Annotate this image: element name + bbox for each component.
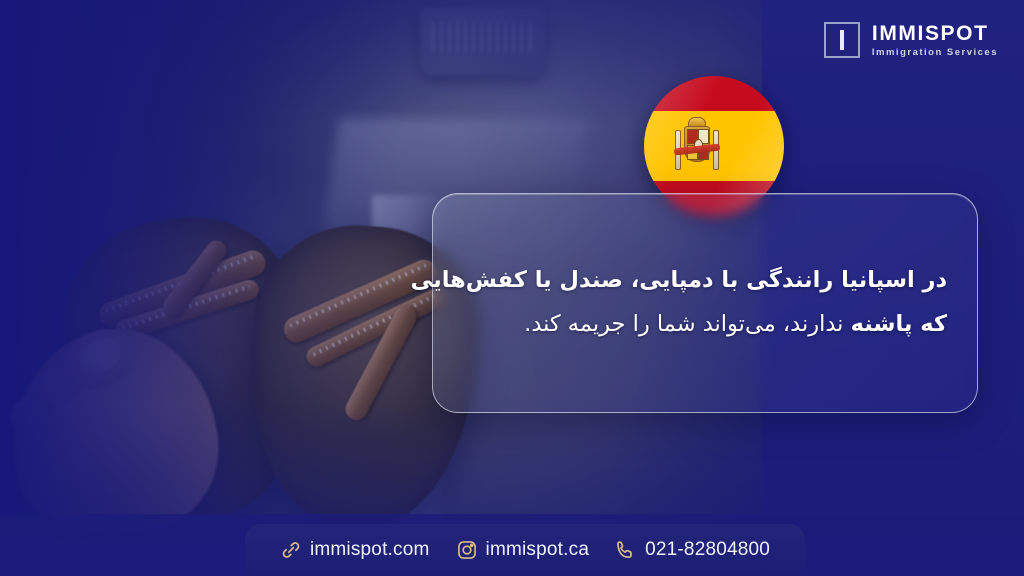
quote-line-2-normal: ندارند، می‌تواند شما را جریمه کند.: [524, 311, 850, 337]
instagram-label: immispot.ca: [486, 539, 590, 561]
brand-name: IMMISPOT: [872, 23, 998, 44]
brand-tagline: Immigration Services: [872, 48, 998, 58]
phone-handset-icon: [615, 539, 637, 561]
quote-card: در اسپانیا رانندگی با دمپایی، صندل یا کف…: [432, 193, 978, 413]
contact-instagram[interactable]: immispot.ca: [456, 539, 590, 561]
quote-line-1-bold: در اسپانیا رانندگی با دمپایی، صندل یا کف…: [411, 267, 947, 293]
contact-website[interactable]: immispot.com: [280, 539, 430, 561]
poster-canvas: IMMISPOT Immigration Services در اسپانیا: [0, 0, 1024, 576]
immispot-square-i-logo-icon: [824, 22, 860, 58]
quote-line-1: در اسپانیا رانندگی با دمپایی، صندل یا کف…: [459, 259, 947, 303]
instagram-icon: [456, 539, 478, 561]
contact-phone[interactable]: 021-82804800: [615, 539, 770, 561]
phone-label: 021-82804800: [645, 539, 770, 561]
link-chain-icon: [280, 539, 302, 561]
quote-line-2: که پاشنه ندارند، می‌تواند شما را جریمه ک…: [459, 303, 947, 347]
footer-contact-bar: immispot.com immispot.ca 021-82804800: [245, 524, 805, 576]
quote-line-2-bold: که پاشنه: [851, 311, 947, 337]
brand-logo-text: IMMISPOT Immigration Services: [872, 23, 998, 58]
website-label: immispot.com: [310, 539, 430, 561]
brand-logo[interactable]: IMMISPOT Immigration Services: [824, 22, 998, 58]
